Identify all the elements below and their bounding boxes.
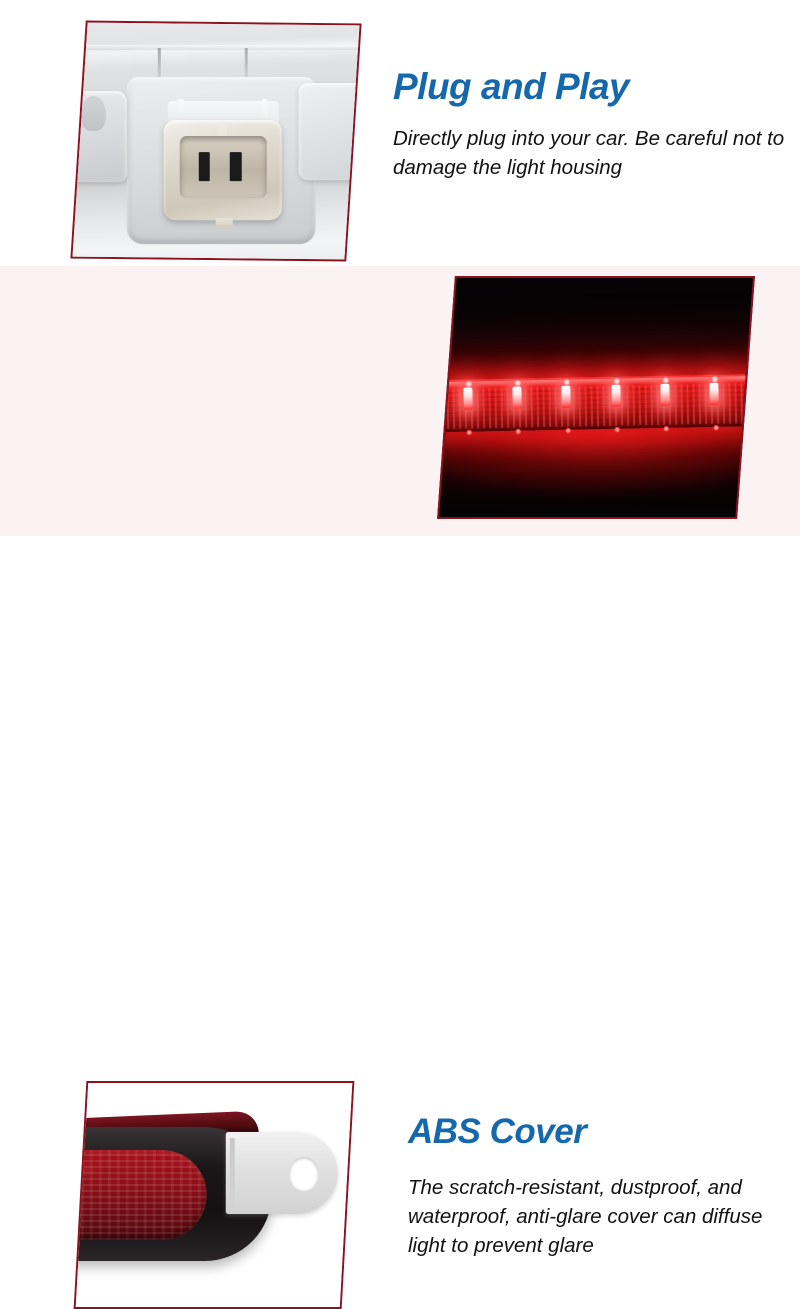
two-pin-connector [164, 120, 282, 220]
led-halo-6 [712, 375, 719, 382]
mounting-bracket [226, 1131, 337, 1213]
plug-and-play-heading: Plug and Play [393, 68, 793, 107]
connector-closeup-photo [70, 21, 361, 262]
section-abs-cover: ABS Cover The scratch-resistant, dustpro… [0, 536, 800, 800]
led-halo-1 [466, 380, 473, 387]
led-light-bar [437, 373, 755, 432]
housing-boss-right [299, 83, 362, 180]
connector-latch [216, 218, 233, 229]
led-halo-3 [564, 378, 571, 385]
abs-cover-end-photo [74, 1081, 355, 1309]
led-chip-5 [661, 383, 670, 405]
led-chip-1 [464, 387, 473, 409]
housing-rib-top [70, 45, 361, 50]
led-foot-3 [565, 427, 571, 433]
led-lens-texture [437, 382, 755, 428]
bracket-seam [229, 1138, 235, 1207]
abs-cover-heading: ABS Cover [408, 1114, 793, 1151]
abs-cover-body: The scratch-resistant, dustproof, and wa… [408, 1173, 793, 1260]
led-photo-content [437, 276, 755, 519]
infographic-page: Plug and Play Directly plug into your ca… [0, 0, 800, 800]
red-lens [74, 1149, 206, 1239]
led-halo-4 [614, 377, 621, 384]
section-plug-and-play: Plug and Play Directly plug into your ca… [0, 0, 800, 266]
abs-cover-text-block: ABS Cover The scratch-resistant, dustpro… [408, 1114, 793, 1260]
abs-cover-photo-content [74, 1081, 355, 1309]
led-reflection-glow [437, 425, 755, 503]
plug-and-play-body: Directly plug into your car. Be careful … [393, 124, 793, 182]
led-halo-2 [515, 379, 522, 386]
plug-and-play-text-block: Plug and Play Directly plug into your ca… [393, 68, 793, 182]
led-chip-4 [612, 384, 621, 406]
led-foot-6 [713, 424, 719, 430]
led-chip-2 [513, 386, 522, 408]
lens-highlight [74, 1160, 98, 1183]
connector-pin-2 [230, 152, 241, 180]
illuminated-led-bar-photo [437, 276, 755, 519]
bracket-mounting-hole [288, 1156, 318, 1191]
led-halo-5 [663, 376, 670, 383]
connector-pin-1 [198, 152, 209, 180]
housing-boss-dimple [357, 133, 362, 154]
connector-photo-content [70, 21, 361, 262]
housing-boss-left [73, 91, 127, 183]
connector-cavity [179, 136, 266, 198]
